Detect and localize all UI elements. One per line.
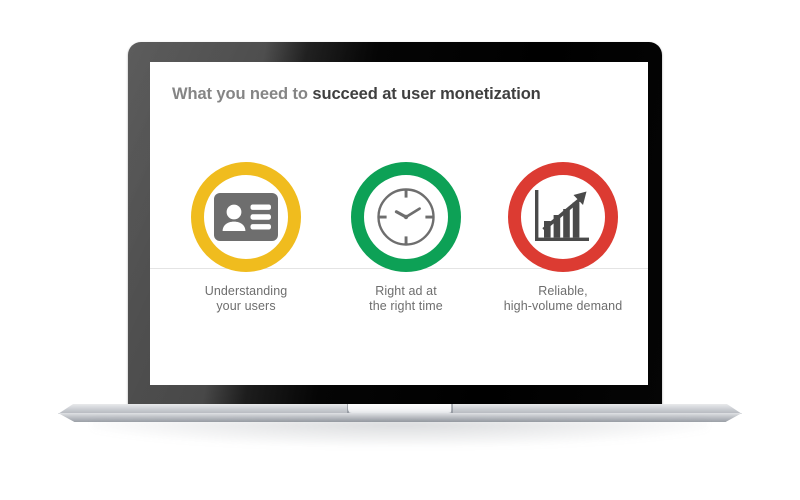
benefit-caption-understanding-users: Understanding your users (162, 284, 330, 314)
base-trackpad-notch (348, 404, 452, 413)
caption-line-1: Right ad at (375, 284, 437, 298)
laptop-screen-slide: What you need to succeed at user monetiz… (150, 62, 648, 385)
icon-ring-green (351, 162, 461, 272)
benefit-card-understanding-users: Understanding your users (162, 162, 330, 314)
id-card-icon (214, 193, 278, 241)
screenshot-canvas: What you need to succeed at user monetiz… (0, 0, 800, 500)
caption-line-2: your users (162, 299, 330, 314)
icon-ring-yellow (191, 162, 301, 272)
page-title-dark-part: succeed at user monetization (312, 85, 540, 103)
benefit-caption-right-ad-right-time: Right ad at the right time (330, 284, 482, 314)
icon-ring-red (508, 162, 618, 272)
benefit-card-right-ad-right-time: Right ad at the right time (330, 162, 482, 314)
caption-line-1: Reliable, (538, 284, 588, 298)
base-notch-right-edge (451, 404, 453, 413)
benefit-cards-row: Understanding your users (150, 162, 648, 314)
benefit-caption-reliable-demand: Reliable, high-volume demand (482, 284, 644, 314)
page-title-light-part: What you need to (172, 85, 312, 103)
caption-line-2: the right time (330, 299, 482, 314)
laptop-drop-shadow (92, 420, 708, 446)
page-title: What you need to succeed at user monetiz… (172, 85, 541, 104)
caption-line-2: high-volume demand (482, 299, 644, 314)
laptop-device: What you need to succeed at user monetiz… (0, 0, 800, 500)
benefit-card-reliable-demand: Reliable, high-volume demand (482, 162, 644, 314)
caption-line-1: Understanding (205, 284, 288, 298)
clock-icon (375, 186, 437, 248)
bar-chart-growth-icon (533, 188, 593, 246)
